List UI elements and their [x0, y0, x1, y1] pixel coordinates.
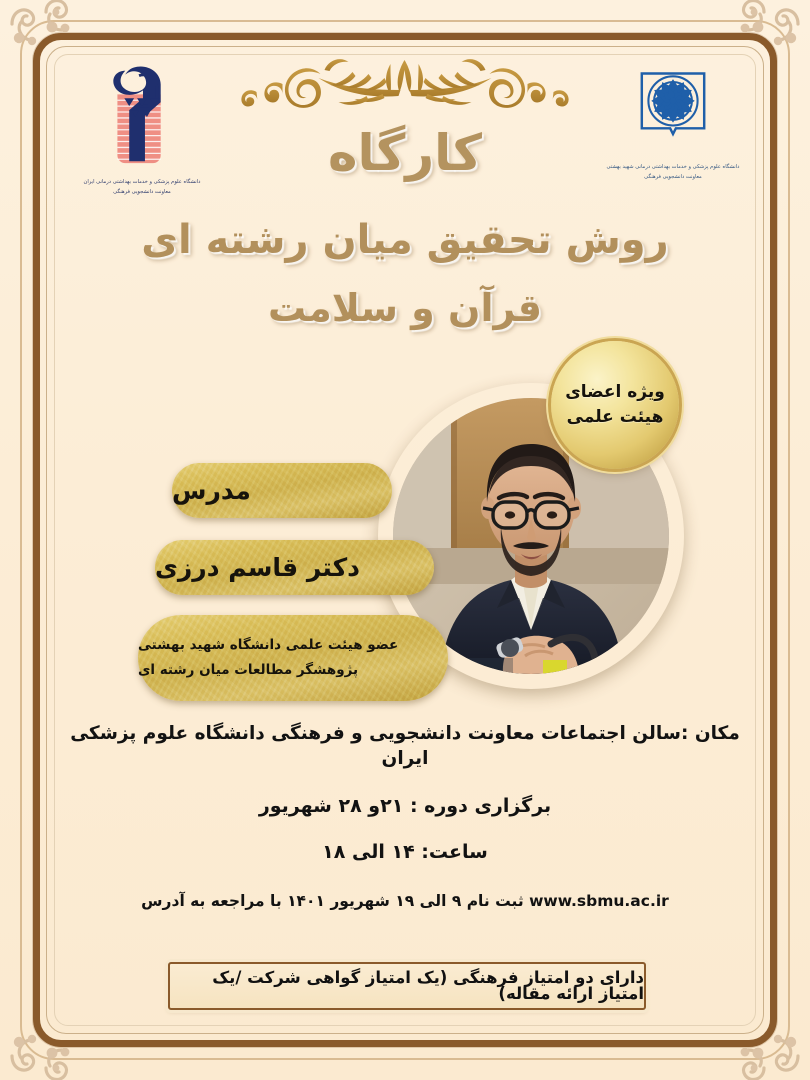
- poster-canvas: دانشگاه علوم پزشکی و خدمات بهداشتی درمان…: [0, 0, 810, 1080]
- title-kicker: کارگاه: [60, 128, 750, 178]
- credit-banner-text: دارای دو امتیاز فرهنگی (یک امتیاز گواهی …: [170, 970, 644, 1003]
- audience-badge-line-1: ویژه اعضای: [565, 380, 665, 406]
- instructor-credential-1: عضو هیئت علمی دانشگاه شهید بهشتی: [138, 633, 398, 658]
- instructor-credentials-pill: عضو هیئت علمی دانشگاه شهید بهشتی پژوهشگر…: [138, 615, 448, 701]
- credit-banner: دارای دو امتیاز فرهنگی (یک امتیاز گواهی …: [168, 962, 646, 1010]
- title-subtitle: قرآن و سلامت: [60, 288, 750, 330]
- audience-badge: ویژه اعضای هیئت علمی: [551, 341, 679, 469]
- instructor-name-pill: دکتر قاسم درزی: [155, 540, 434, 595]
- audience-badge-line-2: هیئت علمی: [567, 405, 664, 431]
- title-main: روش تحقیق میان رشته ای: [60, 218, 750, 262]
- swirl-corner-ornament-icon: [0, 966, 116, 1080]
- instructor-credential-2: پژوهشگر مطالعات میان رشته ای: [138, 658, 358, 683]
- instructor-role-pill: مدرس: [172, 463, 392, 518]
- swirl-corner-ornament-icon: [694, 966, 810, 1080]
- floral-filigree-ornament-icon: [233, 48, 578, 126]
- event-place: مکان :سالن اجتماعات معاونت دانشجویی و فر…: [70, 722, 740, 772]
- registration-url[interactable]: www.sbmu.ac.ir: [529, 891, 669, 912]
- event-registration: www.sbmu.ac.ir ثبت نام ۹ الی ۱۹ شهریور ۱…: [70, 891, 740, 912]
- instructor-name: دکتر قاسم درزی: [155, 553, 360, 582]
- event-details-block: مکان :سالن اجتماعات معاونت دانشجویی و فر…: [70, 722, 740, 912]
- registration-text: ثبت نام ۹ الی ۱۹ شهریور ۱۴۰۱ با مراجعه ب…: [141, 892, 523, 910]
- event-dates: برگزاری دوره : ۲۱و ۲۸ شهریور: [70, 794, 740, 820]
- poster-title-block: کارگاه روش تحقیق میان رشته ای قرآن و سلا…: [60, 128, 750, 330]
- instructor-role-label: مدرس: [172, 476, 251, 505]
- event-time: ساعت: ۱۴ الی ۱۸: [70, 840, 740, 866]
